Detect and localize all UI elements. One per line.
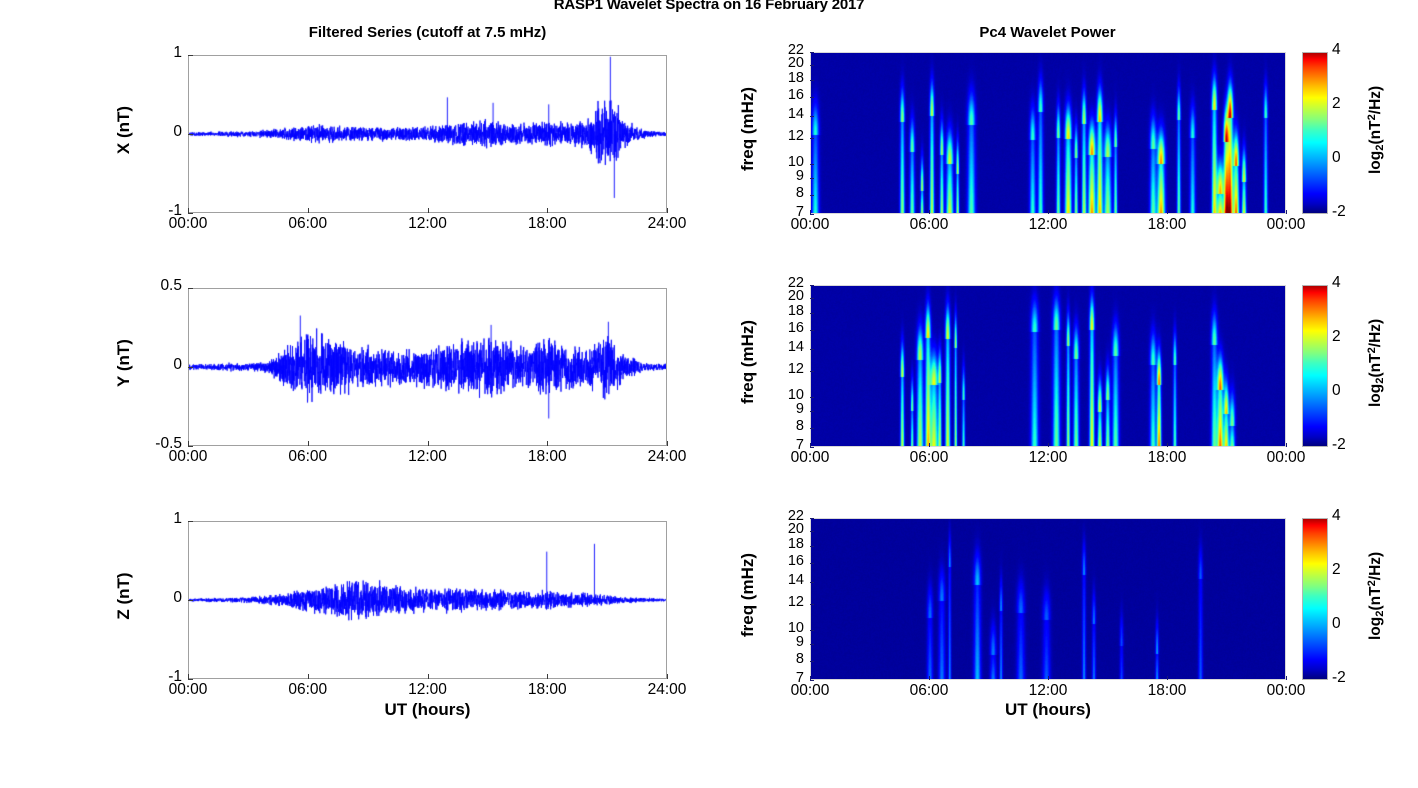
fticklabel-z-6: 10 — [766, 620, 804, 636]
freq-axis-label-z: freq (mHz) — [738, 535, 758, 655]
cbarticklabel-x-1: 2 — [1332, 95, 1341, 113]
ftick-y-8 — [810, 428, 814, 429]
ftick-z-1 — [810, 531, 814, 532]
xticklabel-spec-x-1: 06:00 — [894, 216, 964, 234]
xtick-spec-z-4 — [1286, 676, 1287, 680]
cbarticklabel-y-0: 4 — [1332, 274, 1341, 292]
ftick-x-6 — [810, 164, 814, 165]
xticklabel-spec-y-1: 06:00 — [894, 449, 964, 467]
yticklabel-ts-z-2: -1 — [92, 668, 182, 686]
ftick-z-2 — [810, 546, 814, 547]
xticklabel-ts-z-1: 06:00 — [273, 681, 343, 699]
colorbar-z — [1302, 518, 1328, 680]
xticklabel-spec-z-1: 06:00 — [894, 682, 964, 700]
cbarticklabel-z-0: 4 — [1332, 507, 1341, 525]
ftick-z-0 — [810, 518, 814, 519]
timeseries-trace-z — [189, 522, 666, 678]
ftick-y-1 — [810, 298, 814, 299]
timeseries-trace-x — [189, 56, 666, 212]
fticklabel-x-9: 7 — [766, 204, 804, 220]
fticklabel-x-3: 16 — [766, 87, 804, 103]
cbarticklabel-z-2: 0 — [1332, 615, 1341, 633]
yticklabel-ts-y-1: 0 — [92, 356, 182, 374]
xtick-spec-x-1 — [929, 210, 930, 214]
colorbar-label-y: log2(nT2/Hz) — [1366, 283, 1386, 443]
xtick-spec-y-1 — [929, 443, 930, 447]
ytick-ts-z-2 — [188, 679, 193, 680]
fticklabel-y-1: 20 — [766, 288, 804, 304]
timeseries-axes-x — [188, 55, 667, 213]
fticklabel-z-4: 14 — [766, 572, 804, 588]
spectrogram-y — [810, 285, 1286, 447]
fticklabel-y-4: 14 — [766, 339, 804, 355]
xticklabel-ts-x-3: 18:00 — [512, 215, 582, 233]
colorbar-label-x: log2(nT2/Hz) — [1366, 50, 1386, 210]
ytick-ts-x-0 — [188, 55, 193, 56]
xtick-ts-x-4 — [667, 208, 668, 213]
xtick-ts-y-2 — [428, 441, 429, 446]
xticklabel-ts-y-1: 06:00 — [273, 448, 343, 466]
xaxis-label-left: UT (hours) — [328, 700, 528, 720]
spectrogram-image-z — [811, 519, 1285, 679]
timeseries-trace-y — [189, 289, 666, 445]
ftick-z-6 — [810, 630, 814, 631]
fticklabel-z-9: 7 — [766, 670, 804, 686]
cbarticklabel-x-0: 4 — [1332, 41, 1341, 59]
ftick-x-7 — [810, 178, 814, 179]
xtick-ts-z-1 — [308, 674, 309, 679]
ftick-y-4 — [810, 349, 814, 350]
yticklabel-ts-y-2: -0.5 — [92, 435, 182, 453]
xtick-ts-z-2 — [428, 674, 429, 679]
figure-title: RASP1 Wavelet Spectra on 16 February 201… — [0, 0, 1418, 13]
xticklabel-ts-y-4: 24:00 — [632, 448, 702, 466]
xticklabel-spec-x-3: 18:00 — [1132, 216, 1202, 234]
freq-axis-label-y: freq (mHz) — [738, 302, 758, 422]
freq-axis-label-x: freq (mHz) — [738, 69, 758, 189]
xtick-spec-y-3 — [1167, 443, 1168, 447]
yticklabel-ts-z-1: 0 — [92, 589, 182, 607]
xticklabel-ts-y-2: 12:00 — [393, 448, 463, 466]
ftick-x-1 — [810, 65, 814, 66]
fticklabel-z-3: 16 — [766, 553, 804, 569]
ftick-x-0 — [810, 52, 814, 53]
fticklabel-x-7: 9 — [766, 168, 804, 184]
ftick-x-8 — [810, 195, 814, 196]
colorbar-y — [1302, 285, 1328, 447]
xtick-spec-z-1 — [929, 676, 930, 680]
spectrogram-image-y — [811, 286, 1285, 446]
fticklabel-z-8: 8 — [766, 651, 804, 667]
right-column-title: Pc4 Wavelet Power — [810, 24, 1285, 41]
ytick-ts-y-2 — [188, 446, 193, 447]
xtick-spec-y-2 — [1048, 443, 1049, 447]
xtick-spec-z-2 — [1048, 676, 1049, 680]
cbarticklabel-y-2: 0 — [1332, 382, 1341, 400]
ytick-ts-x-2 — [188, 213, 193, 214]
yaxis-label-z: Z (nT) — [114, 536, 134, 656]
xticklabel-ts-z-3: 18:00 — [512, 681, 582, 699]
xticklabel-ts-z-2: 12:00 — [393, 681, 463, 699]
ftick-y-7 — [810, 411, 814, 412]
yticklabel-ts-x-2: -1 — [92, 202, 182, 220]
xticklabel-spec-x-2: 12:00 — [1013, 216, 1083, 234]
timeseries-axes-y — [188, 288, 667, 446]
ftick-y-9 — [810, 447, 814, 448]
ftick-y-5 — [810, 371, 814, 372]
ytick-ts-y-1 — [188, 367, 193, 368]
timeseries-axes-z — [188, 521, 667, 679]
fticklabel-y-3: 16 — [766, 320, 804, 336]
spectrogram-x — [810, 52, 1286, 214]
ftick-z-3 — [810, 563, 814, 564]
xtick-spec-x-4 — [1286, 210, 1287, 214]
xtick-spec-z-3 — [1167, 676, 1168, 680]
ftick-y-0 — [810, 285, 814, 286]
ftick-z-8 — [810, 661, 814, 662]
ftick-x-3 — [810, 97, 814, 98]
xtick-ts-y-3 — [547, 441, 548, 446]
ftick-z-7 — [810, 644, 814, 645]
yaxis-label-x: X (nT) — [114, 70, 134, 190]
cbarticklabel-z-1: 2 — [1332, 561, 1341, 579]
xticklabel-spec-z-2: 12:00 — [1013, 682, 1083, 700]
ftick-y-3 — [810, 330, 814, 331]
fticklabel-y-5: 12 — [766, 361, 804, 377]
xtick-ts-x-1 — [308, 208, 309, 213]
xtick-spec-x-3 — [1167, 210, 1168, 214]
yticklabel-ts-z-0: 1 — [92, 510, 182, 528]
yticklabel-ts-y-0: 0.5 — [92, 277, 182, 295]
cbarticklabel-y-1: 2 — [1332, 328, 1341, 346]
cbarticklabel-z-3: -2 — [1332, 669, 1346, 687]
colorbar-label-z: log2(nT2/Hz) — [1366, 516, 1386, 676]
ftick-x-5 — [810, 138, 814, 139]
fticklabel-z-2: 18 — [766, 536, 804, 552]
xticklabel-spec-y-2: 12:00 — [1013, 449, 1083, 467]
spectrogram-z — [810, 518, 1286, 680]
ytick-ts-y-0 — [188, 288, 193, 289]
xtick-ts-x-2 — [428, 208, 429, 213]
ftick-z-4 — [810, 582, 814, 583]
fticklabel-x-8: 8 — [766, 185, 804, 201]
xticklabel-ts-x-4: 24:00 — [632, 215, 702, 233]
ftick-y-2 — [810, 313, 814, 314]
left-column-title: Filtered Series (cutoff at 7.5 mHz) — [188, 24, 667, 41]
xticklabel-spec-z-3: 18:00 — [1132, 682, 1202, 700]
xtick-ts-y-1 — [308, 441, 309, 446]
xticklabel-spec-y-3: 18:00 — [1132, 449, 1202, 467]
xticklabel-ts-x-1: 06:00 — [273, 215, 343, 233]
xticklabel-ts-z-4: 24:00 — [632, 681, 702, 699]
xtick-ts-y-4 — [667, 441, 668, 446]
fticklabel-z-5: 12 — [766, 594, 804, 610]
yticklabel-ts-x-1: 0 — [92, 123, 182, 141]
ftick-x-2 — [810, 80, 814, 81]
xaxis-label-right: UT (hours) — [948, 700, 1148, 720]
xtick-ts-x-3 — [547, 208, 548, 213]
fticklabel-y-7: 9 — [766, 401, 804, 417]
ftick-x-9 — [810, 214, 814, 215]
spectrogram-image-x — [811, 53, 1285, 213]
fticklabel-x-5: 12 — [766, 128, 804, 144]
xtick-spec-x-2 — [1048, 210, 1049, 214]
fticklabel-x-1: 20 — [766, 55, 804, 71]
figure-canvas: RASP1 Wavelet Spectra on 16 February 201… — [0, 0, 1418, 788]
yticklabel-ts-x-0: 1 — [92, 44, 182, 62]
fticklabel-x-4: 14 — [766, 106, 804, 122]
ytick-ts-x-1 — [188, 134, 193, 135]
cbarticklabel-x-2: 0 — [1332, 149, 1341, 167]
xtick-spec-y-4 — [1286, 443, 1287, 447]
ftick-z-9 — [810, 680, 814, 681]
fticklabel-y-2: 18 — [766, 303, 804, 319]
yaxis-label-y: Y (nT) — [114, 303, 134, 423]
ytick-ts-z-0 — [188, 521, 193, 522]
colorbar-x — [1302, 52, 1328, 214]
xtick-ts-z-3 — [547, 674, 548, 679]
ftick-z-5 — [810, 604, 814, 605]
xticklabel-ts-x-2: 12:00 — [393, 215, 463, 233]
cbarticklabel-y-3: -2 — [1332, 436, 1346, 454]
xticklabel-spec-x-4: 00:00 — [1251, 216, 1321, 234]
xticklabel-spec-z-4: 00:00 — [1251, 682, 1321, 700]
ftick-y-6 — [810, 397, 814, 398]
xticklabel-spec-y-4: 00:00 — [1251, 449, 1321, 467]
fticklabel-x-2: 18 — [766, 70, 804, 86]
fticklabel-z-1: 20 — [766, 521, 804, 537]
fticklabel-y-9: 7 — [766, 437, 804, 453]
ftick-x-4 — [810, 116, 814, 117]
fticklabel-y-8: 8 — [766, 418, 804, 434]
xticklabel-ts-y-3: 18:00 — [512, 448, 582, 466]
fticklabel-y-6: 10 — [766, 387, 804, 403]
cbarticklabel-x-3: -2 — [1332, 203, 1346, 221]
fticklabel-z-7: 9 — [766, 634, 804, 650]
ytick-ts-z-1 — [188, 600, 193, 601]
fticklabel-x-6: 10 — [766, 154, 804, 170]
xtick-ts-z-4 — [667, 674, 668, 679]
